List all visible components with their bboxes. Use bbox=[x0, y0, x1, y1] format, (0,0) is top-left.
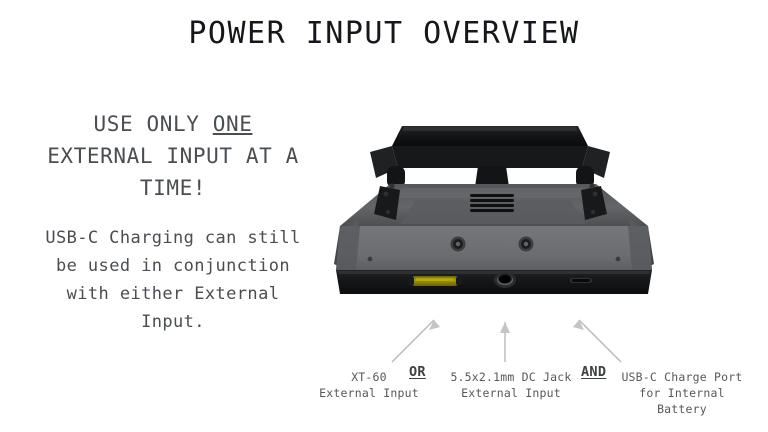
dc-barrel-jack bbox=[494, 272, 516, 288]
callout-xt60-line-2: External Input bbox=[305, 385, 433, 401]
antenna-base-left bbox=[374, 186, 400, 220]
callout-dc-jack-line-2: External Input bbox=[437, 385, 585, 401]
screw-front-right bbox=[616, 257, 621, 262]
usb-c-port bbox=[570, 278, 592, 283]
warning-line-2: EXTERNAL INPUT AT A bbox=[8, 140, 338, 172]
note-line-2: be used in conjunction bbox=[8, 252, 338, 280]
note-line-4: Input. bbox=[8, 308, 338, 336]
conjunction-and: AND bbox=[581, 364, 606, 380]
warning-line-1: USE ONLY ONE bbox=[8, 108, 338, 140]
callout-dc-jack: 5.5x2.1mm DC Jack External Input bbox=[437, 369, 585, 401]
callout-usbc-line-1: USB-C Charge Port bbox=[606, 369, 758, 385]
warning-line-1-prefix: USE ONLY bbox=[94, 112, 213, 136]
screw-top-left bbox=[389, 183, 394, 188]
warning-text-block: USE ONLY ONE EXTERNAL INPUT AT A TIME! bbox=[8, 108, 338, 204]
callout-usbc-line-3: Battery bbox=[606, 401, 758, 417]
xt60-connector bbox=[408, 276, 462, 286]
warning-emphasis-one: ONE bbox=[213, 112, 253, 136]
screw-top-right bbox=[589, 183, 594, 188]
note-line-1: USB-C Charging can still bbox=[8, 224, 338, 252]
port-strip bbox=[336, 270, 652, 294]
controller-body bbox=[334, 183, 654, 274]
callout-usbc: USB-C Charge Port for Internal Battery bbox=[606, 369, 758, 417]
callout-dc-jack-line-1: 5.5x2.1mm DC Jack bbox=[437, 369, 585, 385]
conjunction-or: OR bbox=[409, 364, 426, 380]
device-illustration bbox=[330, 108, 690, 338]
note-line-3: with either External bbox=[8, 280, 338, 308]
power-input-overview-slide: POWER INPUT OVERVIEW USE ONLY ONE EXTERN… bbox=[0, 0, 768, 432]
callout-usbc-line-2: for Internal bbox=[606, 385, 758, 401]
screw-front-left bbox=[368, 257, 373, 262]
page-title: POWER INPUT OVERVIEW bbox=[0, 16, 768, 52]
warning-line-3: TIME! bbox=[8, 172, 338, 204]
usbc-note-text-block: USB-C Charging can still be used in conj… bbox=[8, 224, 338, 336]
